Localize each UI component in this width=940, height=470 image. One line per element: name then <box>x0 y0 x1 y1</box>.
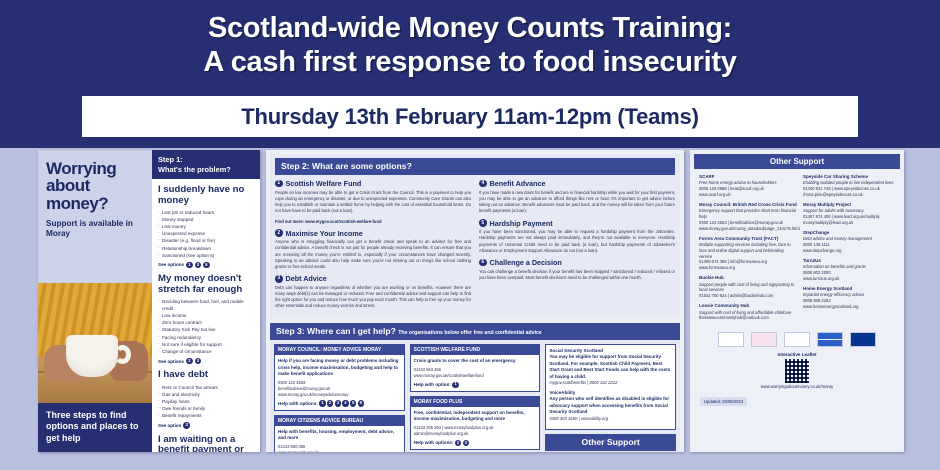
step2-options-right: 4Benefit AdvanceIf you have made a new c… <box>479 179 675 314</box>
step1-see-options-1-label: See options <box>158 359 184 364</box>
step1-item-0-0: Lost job or reduced hours <box>158 209 254 216</box>
other-support-org-c2-contact-4[interactable]: 0808 808 2282 www.homeenergyscotland.org <box>803 298 895 310</box>
step3-org-c1-contact-0[interactable]: 0300 123 4563 benefitadvice@moray.gov.uk… <box>278 380 401 398</box>
step1-item-2-3: Owe friends or family <box>158 405 254 412</box>
step1-item-1-6: Change of circumstance <box>158 348 254 355</box>
step1-see-options-2: See option3 <box>158 422 254 429</box>
photo-mug <box>66 335 118 377</box>
option-badge-3: 3 <box>195 358 202 365</box>
step2-option-left-title-1: 2Maximise Your Income <box>275 229 471 238</box>
option-badge-6: 6 <box>479 259 487 267</box>
step1-group-title-0: I suddenly have no money <box>158 185 254 206</box>
step1-group-list-2: Rent or Council Tax arrearsGas and elect… <box>158 384 254 420</box>
step2-option-right-body-0: If you have made a new claim for benefit… <box>479 190 675 215</box>
option-badge-2: 2 <box>186 358 193 365</box>
scottish-flag-logo <box>817 332 843 347</box>
banner-title-line2: A cash first response to food insecurity <box>0 46 940 80</box>
option-badge-3: 3 <box>335 400 341 406</box>
banner-date-text: Thursday 13th February 11am-12pm (Teams) <box>241 104 698 130</box>
other-support-org-c2-contact-2[interactable]: 0800 138 1111 www.stepchange.org <box>803 242 895 254</box>
step2-option-left-body-2: Debt can happen to anyone regardless of … <box>275 285 471 310</box>
tsi-moray-logo <box>784 332 810 347</box>
option-badge-3: 3 <box>195 262 202 269</box>
step2-option-right-title-2: 6Challenge a Decision <box>479 258 675 267</box>
other-support-org-c2-contact-0[interactable]: 01340 831 748 | www.speysidecoss.co.uk r… <box>803 186 895 198</box>
other-support-org-c1-4: Lossie Community HubSupport with cost of… <box>699 303 797 321</box>
other-support-org-c1-1: Moray Council: British Red Cross Crisis … <box>699 202 797 231</box>
step3-col3-org-1: VoiceAbilityAny person who self identifi… <box>549 390 672 422</box>
option-badge-2: 2 <box>455 440 461 446</box>
option-badge-1: 1 <box>319 400 325 406</box>
step1-heading: Step 1: What's the problem? <box>152 150 260 179</box>
step3-column-2: SCOTTISH WELFARE FUNDCrisis grants to co… <box>410 344 541 452</box>
other-support-org-c1-3: Buckie HubSupport people with cost of li… <box>699 275 797 299</box>
pink-partner-logo <box>751 332 777 347</box>
step2-option-left-title-0: 1Scottish Welfare Fund <box>275 179 471 188</box>
step1-see-options-0: See options135 <box>158 262 254 269</box>
step1-item-1-2: Zero hours contract <box>158 319 254 326</box>
other-support-org-c2-4: Home Energy ScotlandImpartial energy eff… <box>803 286 895 310</box>
other-support-org-c2-3: Turn2UsInformation on benefits and grant… <box>803 258 895 282</box>
other-support-org-c1-contact-0[interactable]: 0808 129 0888 | heat@scarf.org.uk www.sc… <box>699 186 797 198</box>
step1-see-options-1: See options23 <box>158 358 254 365</box>
step3-org-c1-1: MORAY CITIZENS ADVICE BUREAUHelp with be… <box>274 415 405 452</box>
step2-option-right-body-2: You can challenge a benefit decision if … <box>479 269 675 281</box>
step3-col3-desc-1: Any person who self identifies as disabl… <box>549 396 672 416</box>
option-badge-3: 3 <box>183 422 190 429</box>
option-badge-4: 4 <box>479 180 487 188</box>
other-support-column-2: Speyside Car Sharing SchemeEnabling isol… <box>803 174 895 326</box>
step3-column-1: MORAY COUNCIL: MONEY ADVICE MORAYHelp if… <box>274 344 405 452</box>
step1-item-0-2: Lost money <box>158 223 254 230</box>
step2-option-left-title-text-0: Scottish Welfare Fund <box>286 179 362 188</box>
step1-item-1-5: Not sure if eligible for support <box>158 341 254 348</box>
option-badge-3: 3 <box>275 275 283 283</box>
other-support-org-c1-0: SCARFFree home energy advice to househol… <box>699 174 797 198</box>
step3-org-c2-body-1: Free, confidential, independent support … <box>411 407 540 449</box>
step3-org-c2-name-0: SCOTTISH WELFARE FUND <box>411 345 540 355</box>
step2-panel: Step 2: What are some options? 1Scottish… <box>270 154 680 319</box>
event-banner: Scotland-wide Money Counts Training: A c… <box>0 0 940 148</box>
step1-panel: Step 1: What's the problem? I suddenly h… <box>152 150 260 452</box>
step1-item-0-6: Sanctioned (see option 5) <box>158 252 254 259</box>
qr-url: www.worryingaboutmoney.co.uk/moray <box>694 384 900 389</box>
step2-option-right-title-text-1: Hardship Payment <box>490 219 553 228</box>
step3-org-c1-body-1: Help with benefits, housing, employment,… <box>275 426 404 452</box>
step1-item-2-4: Benefit repayments <box>158 412 254 419</box>
step2-option-right-body-1: If you have been sanctioned, you may be … <box>479 229 675 254</box>
step3-org-c1-body-0: Help if you are facing money or debt pro… <box>275 355 404 410</box>
banner-date-box: Thursday 13th February 11am-12pm (Teams) <box>82 96 858 137</box>
step3-org-c2-0: SCOTTISH WELFARE FUNDCrisis grants to co… <box>410 344 541 392</box>
photo-mug-handle <box>114 345 131 364</box>
step3-org-c2-desc-1: Free, confidential, independent support … <box>414 410 537 423</box>
step3-org-c1-contact-1[interactable]: 01343 550 088 www.moraycab.org.uk bureau… <box>278 444 401 452</box>
leaflet-cover-panel: Worrying about money? Support is availab… <box>38 150 152 452</box>
option-badge-5: 5 <box>479 219 487 227</box>
step2-option-left-body-0: People on low incomes may be able to get… <box>275 190 471 215</box>
step1-group-list-1: Deciding between food, fuel, and mobile … <box>158 298 254 355</box>
cover-header: Worrying about money? Support is availab… <box>38 150 152 239</box>
step1-item-0-5: Relationship breakdown <box>158 245 254 252</box>
step3-social-security-box: Social Security ScotlandYou may be eligi… <box>545 344 676 430</box>
cover-footer-text: Three steps to find options and places t… <box>38 403 152 452</box>
step1-group-title-1: My money doesn't stretch far enough <box>158 274 254 295</box>
option-badge-1: 1 <box>186 262 193 269</box>
food-aid-network-logo <box>718 332 744 347</box>
step1-item-1-0: Deciding between food, fuel, and mobile … <box>158 298 254 312</box>
step1-item-0-3: Unexpected expense <box>158 230 254 237</box>
step3-column-3: Social Security ScotlandYou may be eligi… <box>545 344 676 452</box>
funder-logos <box>694 332 900 347</box>
other-support-org-c1-contact-3[interactable]: 01542 780 624 | admin@buckiehub.com <box>699 293 797 299</box>
step3-heading-sub: The organisations below offer free and c… <box>398 330 542 336</box>
other-support-org-c1-contact-1[interactable]: 0300 123 4563 | benefitadvice@moray.gov.… <box>699 220 797 232</box>
eu-funding-logo <box>850 332 876 347</box>
other-support-org-c2-1: Moray Multiply ProjectSupport for adults… <box>803 202 895 226</box>
step2-option-right-title-1: 5Hardship Payment <box>479 219 675 228</box>
cover-title: Worrying about money? <box>46 160 144 212</box>
option-badge-6: 6 <box>358 400 364 406</box>
step1-heading-line2: What's the problem? <box>158 165 254 175</box>
step3-org-c2-help-0-label: Help with option: <box>414 382 451 387</box>
step1-item-2-1: Gas and electricity <box>158 391 254 398</box>
step3-org-c2-name-1: MORAY FOOD PLUS <box>411 397 540 407</box>
other-support-org-c1-2: Forres Area Community Trust (FACT)Multip… <box>699 236 797 271</box>
step1-group-title-3: I am waiting on a benefit payment or adv… <box>158 435 254 452</box>
step2-option-right-title-text-2: Challenge a Decision <box>490 258 562 267</box>
step3-org-c1-name-1: MORAY CITIZENS ADVICE BUREAU <box>275 416 404 426</box>
other-support-org-c1-contact-2[interactable]: 01309 674 388 | info@forresarea.org www.… <box>699 259 797 271</box>
step1-item-1-1: Low income <box>158 312 254 319</box>
option-badge-2: 2 <box>327 400 333 406</box>
step3-col3-desc-0: You may be eligible for support from Soc… <box>549 354 672 380</box>
step1-item-2-2: Payday loans <box>158 398 254 405</box>
other-support-org-c1-desc-1: Emergency support that provides short te… <box>699 208 797 220</box>
step3-col3-contact-1[interactable]: 0300 303 1660 | voiceability.org <box>549 416 672 422</box>
step2-option-right-title-0: 4Benefit Advance <box>479 179 675 188</box>
option-badge-2: 2 <box>275 229 283 237</box>
step1-item-1-3: Statutory Sick Pay too low <box>158 326 254 333</box>
option-badge-4: 4 <box>342 400 348 406</box>
step3-col3-contact-0[interactable]: mygov.scot/benefits | 0800 182 2222 <box>549 380 672 386</box>
step1-group-list-0: Lost job or reduced hoursMoney stoppedLo… <box>158 209 254 259</box>
option-badge-5: 5 <box>350 400 356 406</box>
step3-org-c1-0: MORAY COUNCIL: MONEY ADVICE MORAYHelp if… <box>274 344 405 411</box>
step2-option-left-body-1: Anyone who is struggling financially can… <box>275 239 471 270</box>
other-support-org-c2-2: StepChangeDebt advice and money manageme… <box>803 230 895 254</box>
step3-org-c2-1: MORAY FOOD PLUSFree, confidential, indep… <box>410 396 541 450</box>
step3-social-security-body: Social Security ScotlandYou may be eligi… <box>546 345 675 429</box>
step3-org-c1-help-0-label: Help with options: <box>278 401 318 406</box>
qr-code-icon[interactable] <box>785 359 809 383</box>
step3-org-c1-desc-0: Help if you are facing money or debt pro… <box>278 358 401 378</box>
step3-org-c2-help-1: Help with options:23 <box>414 440 537 446</box>
step3-org-c1-desc-1: Help with benefits, housing, employment,… <box>278 429 401 442</box>
step3-col3-org-0: Social Security ScotlandYou may be eligi… <box>549 348 672 386</box>
step3-panel: Step 3: Where can I get help? The organi… <box>270 323 680 452</box>
step3-org-c2-desc-0: Crisis grants to cover the cost of an em… <box>414 358 537 365</box>
step3-org-c1-name-0: MORAY COUNCIL: MONEY ADVICE MORAY <box>275 345 404 355</box>
other-support-org-c1-desc-3: Support people with cost of living and s… <box>699 282 797 294</box>
step3-heading: Step 3: Where can I get help? The organi… <box>270 323 680 340</box>
step3-heading-main: Step 3: Where can I get help? <box>276 326 396 336</box>
step2-option-left-title-text-1: Maximise Your Income <box>286 229 363 238</box>
other-support-org-c1-desc-2: Multiple supporting services including f… <box>699 242 797 259</box>
step2-heading: Step 2: What are some options? <box>275 158 675 175</box>
leaflet-cover-sheet: Worrying about money? Support is availab… <box>38 150 260 452</box>
cover-subtitle: Support is available in Moray <box>46 219 144 239</box>
step1-item-0-1: Money stopped <box>158 216 254 223</box>
step1-item-1-4: Facing redundancy <box>158 334 254 341</box>
cover-photo-mug-image <box>38 283 152 403</box>
qr-label: Interactive Leaflet <box>694 352 900 357</box>
step3-org-c1-help-0: Help with options:123456 <box>278 400 401 406</box>
other-support-org-c2-0: Speyside Car Sharing SchemeEnabling isol… <box>803 174 895 198</box>
step2-option-left-title-2: 3Debt Advice <box>275 274 471 283</box>
banner-title-line1: Scotland-wide Money Counts Training: <box>0 12 940 46</box>
other-support-sheet: Other Support SCARFFree home energy advi… <box>690 150 904 452</box>
step2-option-left-link-0[interactable]: Find out more: www.mygov.scot/scottish-w… <box>275 219 471 224</box>
step3-org-c2-help-1-label: Help with options: <box>414 440 454 445</box>
other-support-org-c1-contact-4[interactable]: thelossiecommunityhub@outlook.com <box>699 315 797 321</box>
step1-group-title-2: I have debt <box>158 370 254 380</box>
other-support-org-c2-contact-3[interactable]: 0808 802 2000 www.turn2us.org.uk <box>803 270 895 282</box>
step3-other-support-heading: Other Support <box>545 434 676 451</box>
other-support-org-c2-contact-1[interactable]: 01407 874 406 | www.lead.org.uk/multiply… <box>803 214 895 226</box>
other-support-column-1: SCARFFree home energy advice to househol… <box>699 174 797 326</box>
banner-title: Scotland-wide Money Counts Training: A c… <box>0 12 940 79</box>
step1-see-options-0-label: See options <box>158 262 184 267</box>
qr-block: Interactive Leaflet www.worryingaboutmon… <box>694 352 900 389</box>
step1-groups: I suddenly have no moneyLost job or redu… <box>152 179 260 452</box>
step3-org-c2-body-0: Crisis grants to cover the cost of an em… <box>411 355 540 391</box>
option-badge-1: 1 <box>452 382 458 388</box>
step3-org-c2-contact-1[interactable]: 01343 206 293 | www.morayfoodplus.org.uk… <box>414 425 537 437</box>
step2-option-right-title-text-0: Benefit Advance <box>490 179 546 188</box>
updated-date: Updated: 25/06/2024 <box>700 397 747 406</box>
option-badge-1: 1 <box>275 180 283 188</box>
step2-option-left-title-text-2: Debt Advice <box>286 274 327 283</box>
step1-item-0-4: Disaster (e.g. flood or fire) <box>158 237 254 244</box>
step1-see-options-2-label: See option <box>158 423 181 428</box>
leaflet-middle-sheet: Step 2: What are some options? 1Scottish… <box>266 150 684 452</box>
other-support-heading: Other Support <box>694 154 900 169</box>
step1-item-2-0: Rent or Council Tax arrears <box>158 384 254 391</box>
step1-heading-line1: Step 1: <box>158 155 254 165</box>
option-badge-3: 3 <box>463 440 469 446</box>
step3-org-c2-contact-0[interactable]: 01343 563 456 www.moray.gov.uk/scottishw… <box>414 367 537 379</box>
option-badge-5: 5 <box>203 262 210 269</box>
step2-options-left: 1Scottish Welfare FundPeople on low inco… <box>275 179 471 314</box>
step3-org-c2-help-0: Help with option:1 <box>414 382 537 388</box>
